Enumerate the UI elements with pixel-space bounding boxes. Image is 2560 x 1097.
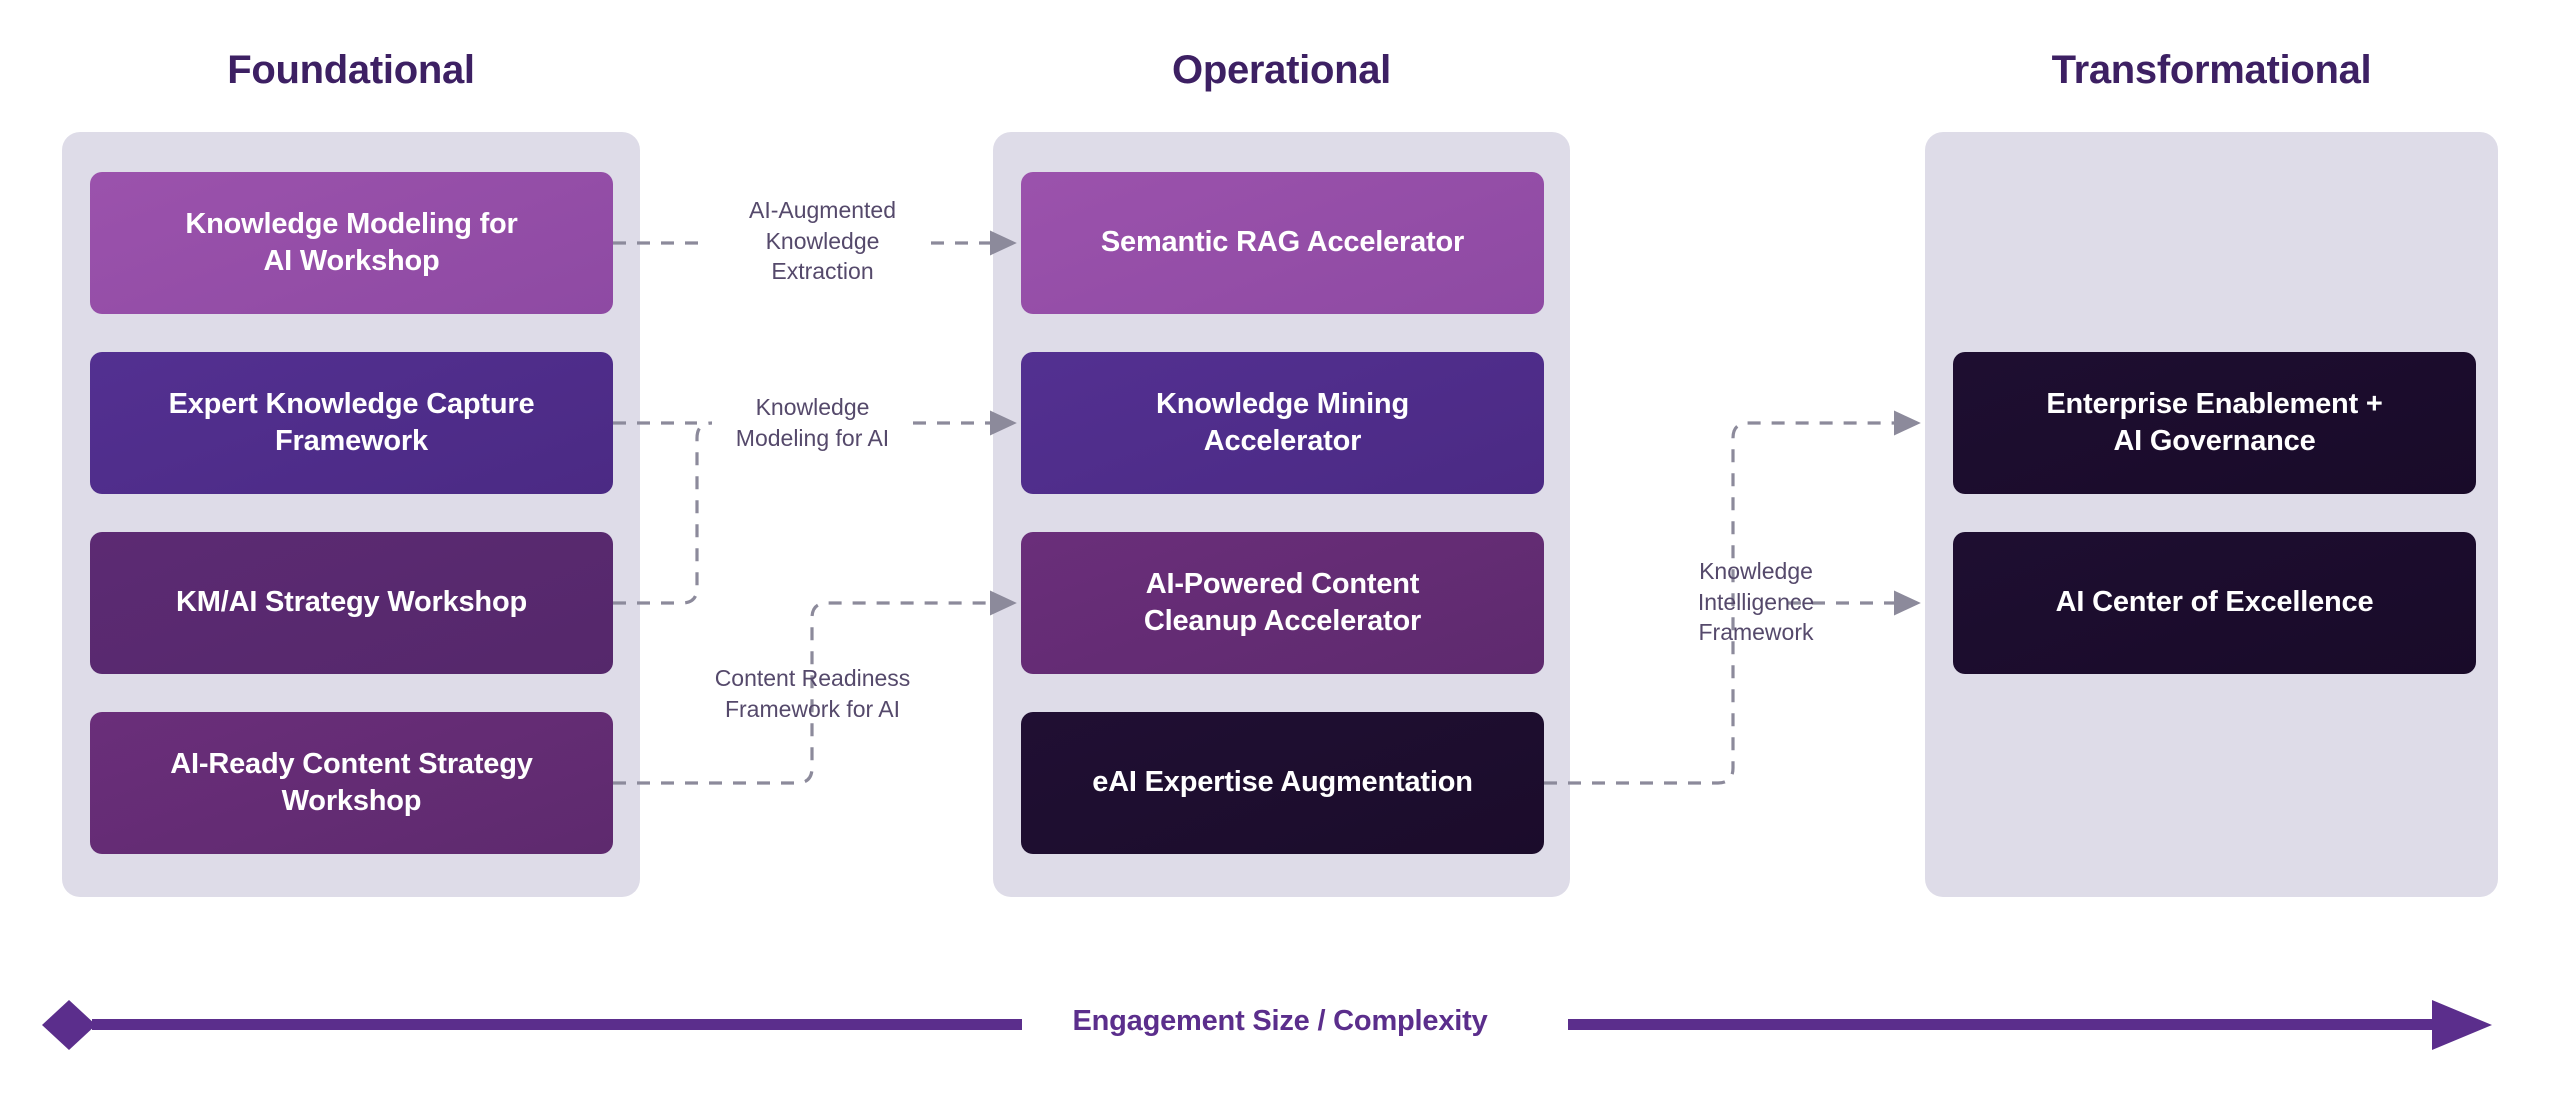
- card-ai-ready-content-strategy[interactable]: AI-Ready Content Strategy Workshop: [90, 712, 613, 854]
- panel-transformational: [1925, 132, 2498, 897]
- card-expert-knowledge-capture[interactable]: Expert Knowledge Capture Framework: [90, 352, 613, 494]
- column-header-operational: Operational: [993, 48, 1570, 93]
- card-ai-center-of-excellence[interactable]: AI Center of Excellence: [1953, 532, 2476, 674]
- card-knowledge-modeling-workshop[interactable]: Knowledge Modeling for AI Workshop: [90, 172, 613, 314]
- card-semantic-rag-accelerator[interactable]: Semantic RAG Accelerator: [1021, 172, 1544, 314]
- connector-label-knowledge-intelligence-framework: Knowledge Intelligence Framework: [1640, 556, 1872, 648]
- card-ai-powered-content-cleanup[interactable]: AI-Powered Content Cleanup Accelerator: [1021, 532, 1544, 674]
- card-knowledge-mining-accelerator[interactable]: Knowledge Mining Accelerator: [1021, 352, 1544, 494]
- column-header-foundational: Foundational: [62, 48, 640, 93]
- column-header-transformational: Transformational: [1925, 48, 2498, 93]
- card-km-ai-strategy-workshop[interactable]: KM/AI Strategy Workshop: [90, 532, 613, 674]
- card-eai-expertise-augmentation[interactable]: eAI Expertise Augmentation: [1021, 712, 1544, 854]
- connector-label-ai-augmented-knowledge-extraction: AI-Augmented Knowledge Extraction: [700, 195, 945, 287]
- connector-label-content-readiness-framework: Content Readiness Framework for AI: [680, 663, 945, 724]
- connector-label-knowledge-modeling-for-ai: Knowledge Modeling for AI: [690, 392, 935, 453]
- card-enterprise-enablement-ai-governance[interactable]: Enterprise Enablement + AI Governance: [1953, 352, 2476, 494]
- axis-label-engagement-size-complexity: Engagement Size / Complexity: [0, 1005, 2560, 1038]
